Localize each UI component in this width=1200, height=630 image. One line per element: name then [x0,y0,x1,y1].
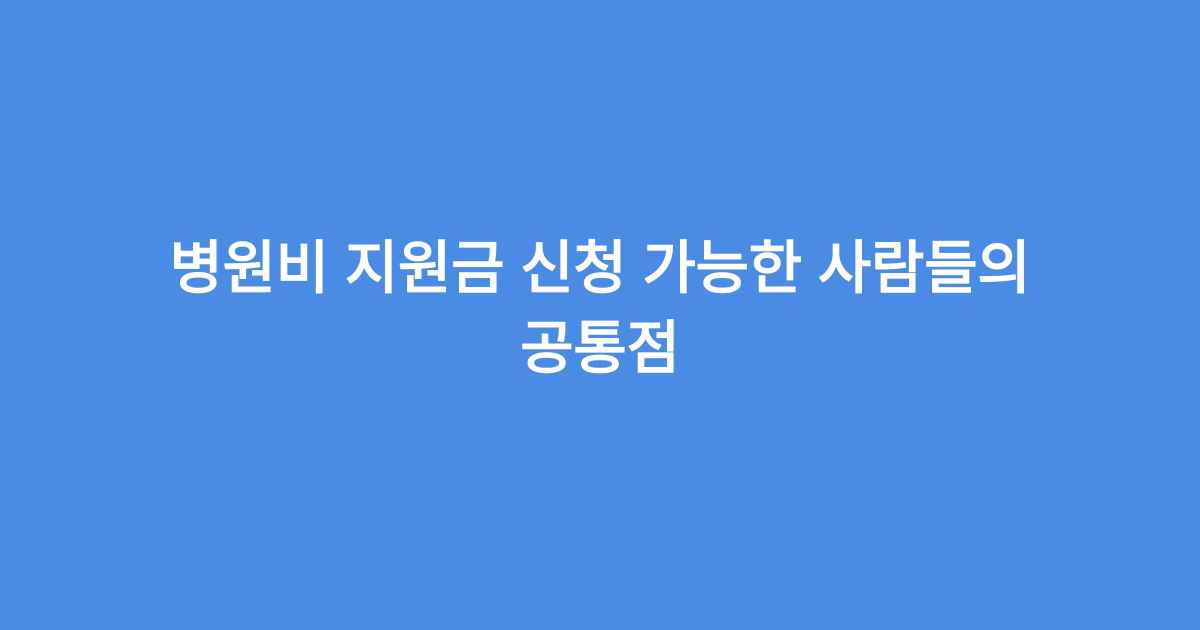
page-title-line-1: 병원비 지원금 신청 가능한 사람들의 [169,229,1030,309]
article-thumbnail-card: 병원비 지원금 신청 가능한 사람들의 공통점 [0,0,1200,630]
page-title: 병원비 지원금 신청 가능한 사람들의 공통점 [169,229,1030,389]
headline-block: 병원비 지원금 신청 가능한 사람들의 공통점 [0,229,1200,389]
page-title-line-2: 공통점 [169,309,1030,389]
